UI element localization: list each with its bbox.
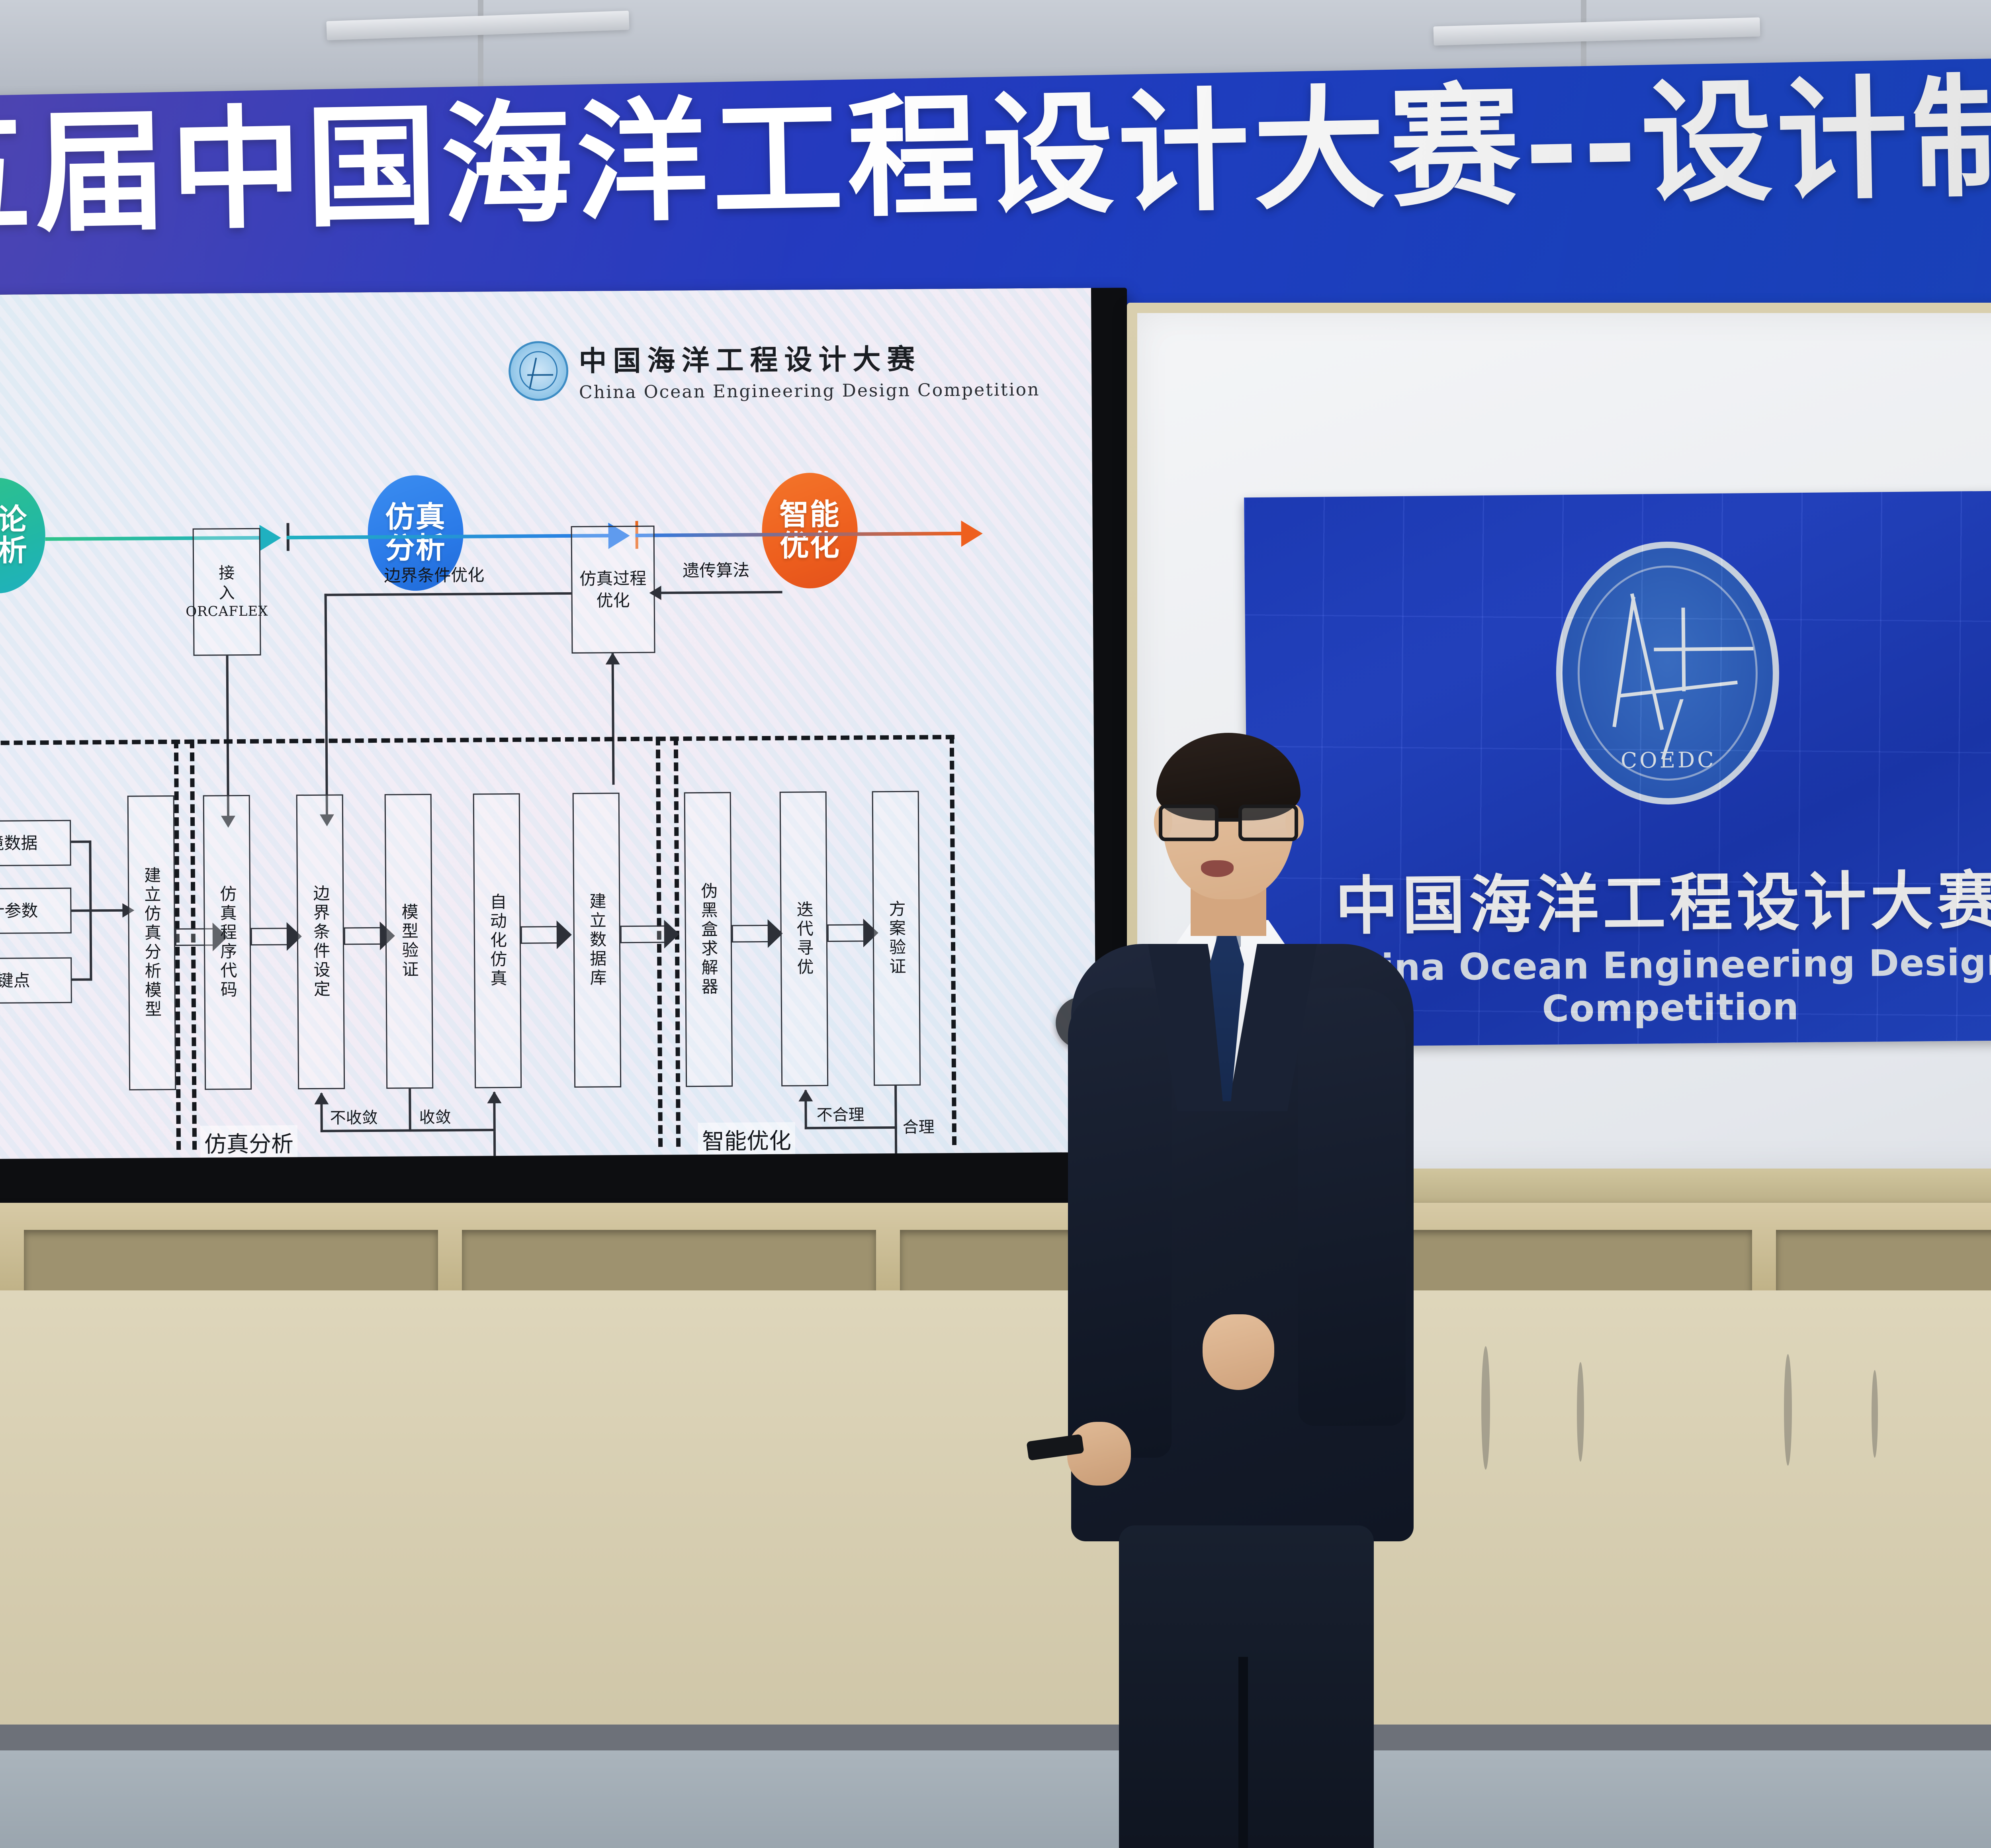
lower-wall <box>0 1290 1991 1740</box>
flow-box-sim-process-opt: 仿真过程 优化 <box>571 526 655 654</box>
simopt-up-line <box>612 653 615 785</box>
group-label-optimization: 智能优化 <box>698 1122 796 1157</box>
slide-logo-title-cn: 中国海洋工程设计大赛 <box>579 336 1040 379</box>
orcaflex-line1: 接 <box>219 565 235 582</box>
presenter <box>1043 733 1449 1848</box>
classroom-scene: 五届中国海洋工程设计大赛--设计制作组 呈 中国海洋工程设计大赛 China O… <box>0 0 1991 1848</box>
input-merge-1 <box>71 840 91 843</box>
presentation-screen[interactable]: 呈 中国海洋工程设计大赛 China Ocean Engineering Des… <box>0 288 1096 1159</box>
flow-arrow-5 <box>620 920 679 949</box>
wall-scuff-2 <box>1577 1362 1584 1462</box>
coedc-flag-seal-icon: COEDC <box>1555 541 1780 806</box>
slide-logo-block: 中国海洋工程设计大赛 China Ocean Engineering Desig… <box>509 336 1040 403</box>
branch-arrow-unreason <box>798 1089 813 1101</box>
flow-box-iterative-search: 迭代寻优 <box>780 791 829 1086</box>
flow-box-pseudo-blackbox: 伪黑盒求解器 <box>684 792 733 1087</box>
branch-line-conv-h <box>409 1129 495 1132</box>
branch-label-not-converged: 不收敛 <box>330 1105 377 1128</box>
coedc-seal-icon <box>509 341 569 401</box>
group-dash-opt-right <box>950 735 956 1145</box>
flow-input-design-params: 工程设计参数 <box>0 888 72 935</box>
branch-line-conv-v <box>409 1088 411 1132</box>
flow-arrow-4 <box>521 920 572 949</box>
branch-arrow-noconv <box>314 1092 329 1104</box>
branch-line-unreason-h <box>805 1126 897 1129</box>
branch-arrow-conv <box>487 1091 501 1103</box>
flow-arrow-6 <box>732 919 783 948</box>
output1-line <box>493 1131 496 1159</box>
cabinet-shelf-1 <box>24 1230 438 1294</box>
simopt-line2: 优化 <box>597 591 630 610</box>
branch-label-reasonable: 合理 <box>903 1114 935 1137</box>
input-to-model <box>71 909 123 912</box>
flow-arrow-7 <box>827 918 878 947</box>
flow-box-scheme-verify: 方案验证 <box>872 791 921 1086</box>
branch-line-reason-v <box>894 1086 897 1159</box>
cabinet-shelf-5 <box>1776 1230 1991 1294</box>
orcaflex-line3: ORCAFLEX <box>186 604 268 619</box>
glasses-icon <box>1159 805 1298 843</box>
wall-scuff-3 <box>1784 1354 1792 1466</box>
flow-box-auto-sim: 自动化仿真 <box>473 793 522 1088</box>
group-dash-top <box>0 735 954 746</box>
flow-box-model-verify: 模型验证 <box>385 794 434 1089</box>
label-boundary-opt: 边界条件优化 <box>384 562 484 587</box>
floor <box>0 1750 1991 1848</box>
simopt-line1: 仿真过程 <box>579 569 646 587</box>
input-merge-3 <box>72 978 92 981</box>
flow-box-orcaflex: 接 入 ORCAFLEX <box>193 528 261 656</box>
presenter-right-arm <box>1298 988 1406 1426</box>
orcaflex-line2: 入 <box>219 585 235 602</box>
presenter-left-arm <box>1068 988 1172 1458</box>
methodology-flowchart: 接 入 ORCAFLEX 仿真过程 优化 边界条件优化 遗传算法 <box>0 511 1096 1139</box>
wall-scuff-4 <box>1872 1370 1878 1458</box>
flow-box-build-model: 建立仿真分析模型 <box>127 795 176 1090</box>
presenter-leg-split <box>1238 1657 1248 1848</box>
branch-line-noconv-h <box>321 1129 411 1132</box>
label-genetic-algorithm: 遗传算法 <box>683 557 749 581</box>
group-label-simulation: 仿真分析 <box>200 1125 298 1159</box>
branch-label-unreasonable: 不合理 <box>816 1102 864 1125</box>
wall-scuff-1 <box>1481 1346 1490 1470</box>
flow-arrow-2 <box>251 922 302 951</box>
simopt-arrow-up <box>606 652 620 664</box>
under-screen-cabinet <box>0 1203 1991 1294</box>
ga-line <box>655 591 782 594</box>
presenter-right-hand <box>1203 1314 1274 1390</box>
light-rod-1 <box>478 0 483 92</box>
flow-box-build-db: 建立数据库 <box>573 793 622 1088</box>
event-banner-text: 五届中国海洋工程设计大赛--设计制作组 <box>0 66 1991 242</box>
slide-logo-title-en: China Ocean Engineering Design Competiti… <box>579 380 1040 403</box>
ga-arrow-left <box>649 586 661 600</box>
branch-label-converged: 收敛 <box>419 1104 451 1128</box>
flow-input-key-points: 设计关键点 <box>0 957 72 1004</box>
flow-box-sim-code: 仿真程序代码 <box>203 795 252 1090</box>
slide-content: 呈 中国海洋工程设计大赛 China Ocean Engineering Des… <box>0 288 1096 1159</box>
flow-input-env-data: 工况环境数据 <box>0 820 71 867</box>
flow-box-boundary-set: 边界条件设定 <box>296 794 345 1089</box>
baseboard <box>0 1725 1991 1752</box>
feedback-line-h <box>325 592 571 596</box>
feedback-line-v <box>325 594 328 822</box>
cabinet-shelf-2 <box>462 1230 876 1294</box>
presenter-mouth <box>1201 860 1234 877</box>
led-display-panel: 呈 中国海洋工程设计大赛 China Ocean Engineering Des… <box>0 288 1132 1215</box>
flag-seal-text: COEDC <box>1563 747 1774 774</box>
